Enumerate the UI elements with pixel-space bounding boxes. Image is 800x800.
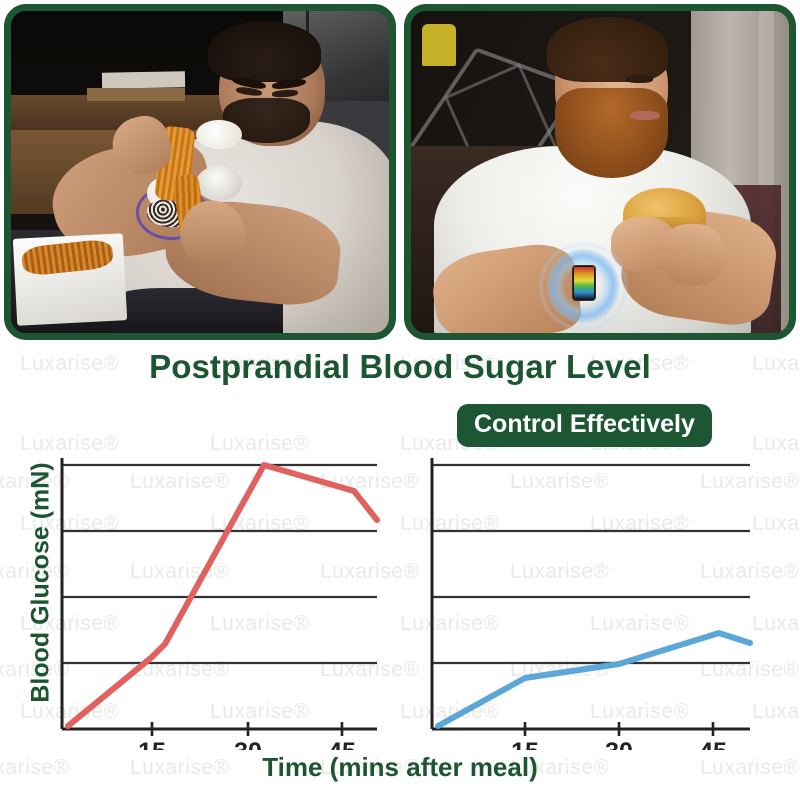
poster-root: Postprandial Blood Sugar Level Control E… — [0, 0, 800, 800]
data-line-blue — [438, 633, 750, 726]
x-tick-45-right: 45 — [699, 738, 727, 750]
photo-1-book — [102, 71, 185, 89]
charts-area: Blood Glucose (mN) — [0, 450, 800, 800]
line-chart-svg-left: 4 3 2 1 0 15 30 45 — [52, 450, 387, 750]
photo-2-lips — [630, 111, 660, 121]
photo-2-eye — [626, 75, 652, 83]
x-tick-30: 30 — [234, 738, 262, 750]
photo-2-hand-right — [660, 224, 724, 285]
photo-1-hair — [208, 21, 321, 82]
data-line-red — [68, 465, 377, 726]
x-tick-45: 45 — [328, 738, 356, 750]
plot-area-left: 4 3 2 1 0 15 30 45 — [52, 450, 387, 750]
photo-1-whipped-cream-right — [196, 166, 241, 201]
x-tick-30-right: 30 — [605, 738, 633, 750]
photo-1-book-lower — [87, 88, 185, 101]
smartwatch-screen-icon — [574, 267, 595, 298]
x-tick-15: 15 — [138, 738, 166, 750]
photo-1-whipped-cream-spoon — [196, 120, 241, 149]
gridlines-left — [62, 465, 377, 663]
photo-2-smartwatch — [572, 265, 597, 300]
photo-man-eating-churros — [4, 4, 396, 340]
x-tick-15-right: 15 — [511, 738, 539, 750]
photo-2-scene — [411, 11, 789, 333]
page-title: Postprandial Blood Sugar Level — [0, 348, 800, 386]
photo-2-yellow-object — [422, 24, 456, 66]
photo-2-hair — [547, 17, 668, 81]
chart-control-effectively: 4 3 2 1 0 15 30 45 — [400, 450, 800, 760]
status-badge: Control Effectively — [457, 404, 712, 447]
line-chart-svg-right: 4 3 2 1 0 15 30 45 — [420, 450, 780, 750]
photo-2-beard — [555, 88, 668, 178]
x-axis-label: Time (mins after meal) — [0, 752, 800, 783]
chart-without-control: Blood Glucose (mN) — [0, 450, 400, 760]
photo-man-with-burger — [404, 4, 796, 340]
photo-1-scene — [11, 11, 389, 333]
plot-area-right: 4 3 2 1 0 15 30 45 — [420, 450, 780, 750]
gridlines-right — [432, 465, 750, 663]
photo-row — [0, 0, 800, 344]
